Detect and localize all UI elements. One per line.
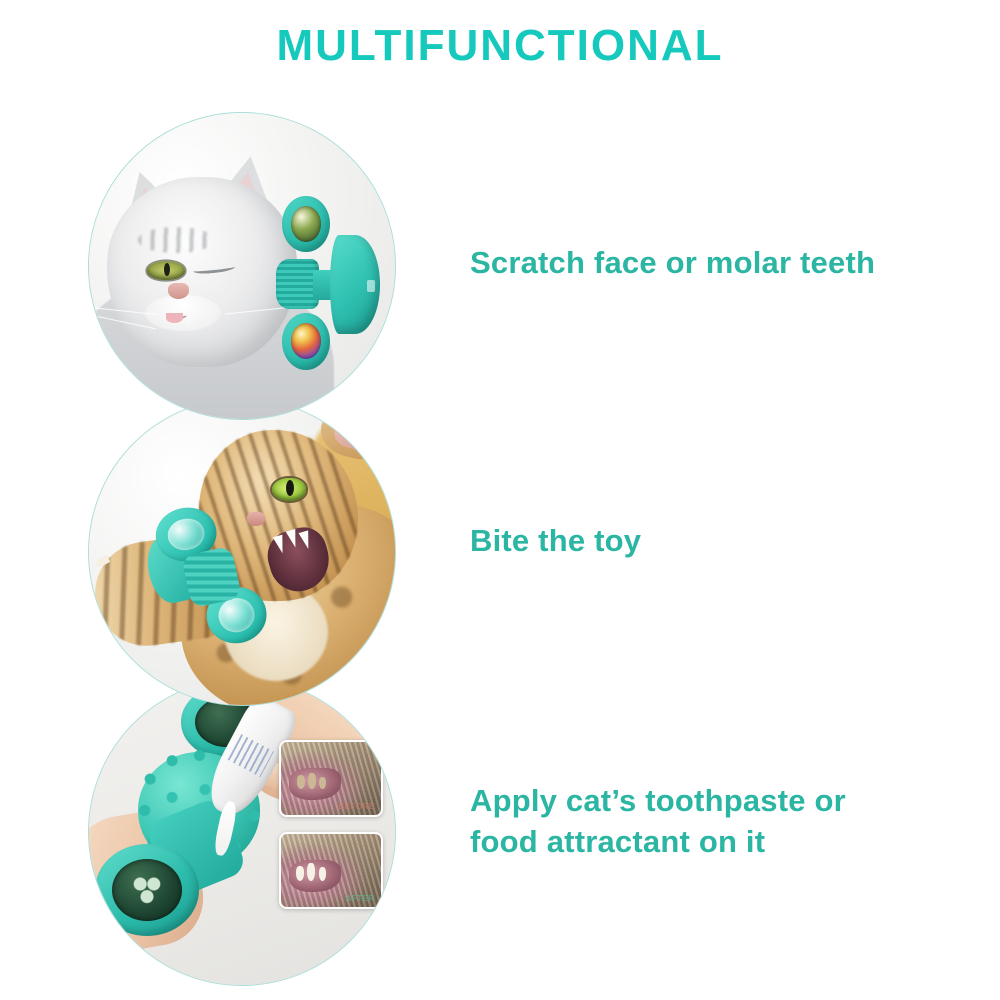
windmill-spinner-toy — [276, 196, 380, 373]
cat-ear-inner — [331, 415, 373, 452]
feature-photo-toothpaste: BEFORE AFTER — [88, 678, 396, 986]
inset-tag-before: BEFORE — [338, 802, 374, 811]
cat-tooth — [299, 530, 314, 550]
cat-pupil — [164, 263, 170, 276]
inset-tag-after: AFTER — [346, 894, 375, 903]
toy-disc-bottom — [95, 844, 199, 936]
cat-gums — [289, 768, 341, 800]
toy-ball-window — [291, 206, 322, 242]
cat-head — [107, 177, 297, 367]
feature-photo-scratch — [88, 112, 396, 420]
cat-tooth — [308, 773, 315, 790]
toy-disc-inner — [112, 859, 183, 921]
cat-fang — [185, 312, 193, 324]
toy-ball-window — [165, 515, 207, 554]
cat-tooth — [286, 529, 301, 549]
feature-label-toothpaste: Apply cat’s toothpaste or food attractan… — [470, 780, 940, 862]
feature-photo-bite — [88, 398, 396, 706]
cat-tooth — [296, 866, 304, 881]
photo-apply-toothpaste: BEFORE AFTER — [89, 679, 395, 985]
photo-bite-toy — [89, 399, 395, 705]
page-title: MULTIFUNCTIONAL — [0, 20, 1000, 73]
cat-forehead-stripes — [138, 227, 214, 254]
cat-tongue — [166, 313, 183, 323]
toy-clover-emblem — [130, 875, 164, 905]
tube-label-lines — [227, 735, 273, 778]
cat-tooth — [307, 863, 315, 881]
cat-tooth — [273, 535, 288, 555]
cat-eye-winking — [192, 262, 235, 274]
cat-tooth — [297, 775, 305, 789]
cat-tooth — [319, 867, 326, 881]
cat-pupil — [286, 480, 294, 496]
cat-gums — [289, 860, 341, 892]
toy-ball-window — [291, 323, 322, 359]
toy-lobe-bottom — [282, 313, 330, 370]
bengal-cat-eye — [272, 478, 306, 501]
toy-lobe-top — [282, 196, 330, 253]
cat-tooth — [319, 777, 326, 790]
feature-label-toothpaste-line1: Apply cat’s toothpaste or — [470, 780, 940, 821]
feature-label-scratch: Scratch face or molar teeth — [470, 242, 875, 283]
toy-suction-cup — [330, 235, 380, 334]
feature-label-bite: Bite the toy — [470, 520, 641, 561]
inset-photo-before: BEFORE — [279, 740, 383, 817]
feature-label-toothpaste-line2: food attractant on it — [470, 821, 940, 862]
cat-eye-open — [147, 261, 185, 280]
photo-scratch-face — [89, 113, 395, 419]
toy-logo-badge — [367, 280, 375, 292]
inset-photo-after: AFTER — [279, 832, 383, 909]
